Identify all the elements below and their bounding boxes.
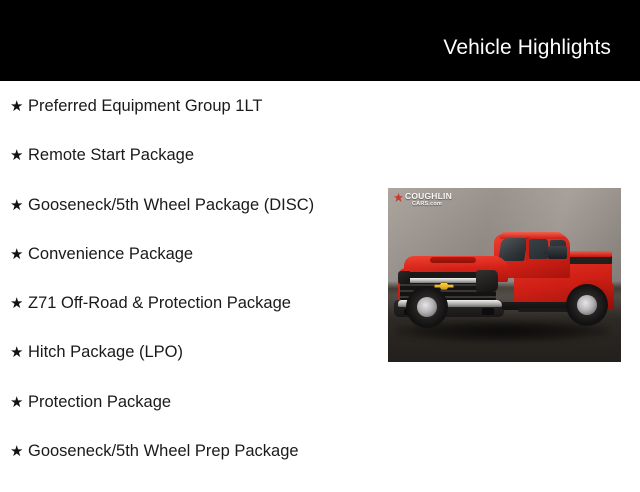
truck-headlight-left: [398, 271, 410, 284]
list-item: ★ Z71 Off-Road & Protection Package: [0, 295, 390, 344]
coughlin-star-logo-icon: [394, 193, 403, 202]
header-banner: Vehicle Highlights: [0, 0, 640, 81]
vehicle-photo: COUGHLIN CARS.com: [388, 188, 621, 362]
list-item-label: Preferred Equipment Group 1LT: [28, 98, 262, 115]
list-item-label: Z71 Off-Road & Protection Package: [28, 295, 291, 312]
truck-step-bar: [518, 308, 572, 312]
list-item-label: Remote Start Package: [28, 147, 194, 164]
truck-front-wheel-rim: [417, 297, 437, 317]
star-bullet-icon: ★: [10, 198, 28, 213]
list-item-label: Protection Package: [28, 394, 171, 411]
truck-windshield: [498, 238, 528, 261]
star-bullet-icon: ★: [10, 444, 28, 459]
truck-rear-wheel-rim: [577, 295, 597, 315]
watermark-text: COUGHLIN CARS.com: [405, 192, 452, 207]
star-bullet-icon: ★: [10, 148, 28, 163]
truck-headlight-right: [476, 270, 498, 292]
star-bullet-icon: ★: [10, 395, 28, 410]
list-item: ★ Hitch Package (LPO): [0, 344, 390, 393]
truck-front-window: [529, 239, 548, 259]
vehicle-highlights-list: ★ Preferred Equipment Group 1LT ★ Remote…: [0, 81, 390, 492]
list-item: ★ Preferred Equipment Group 1LT: [0, 81, 390, 147]
watermark-site: CARS.com: [405, 202, 452, 208]
watermark-brand: COUGHLIN: [405, 192, 452, 201]
truck-tow-mirror: [548, 246, 567, 259]
truck-rear-wheel: [566, 284, 608, 326]
star-bullet-icon: ★: [10, 296, 28, 311]
list-item: ★ Convenience Package: [0, 246, 390, 295]
truck-b-pillar: [526, 237, 529, 261]
truck-front-wheel: [406, 286, 448, 328]
truck-illustration: [390, 224, 618, 344]
list-item-label: Convenience Package: [28, 246, 193, 263]
truck-fog-light-right: [482, 308, 494, 315]
list-item-label: Gooseneck/5th Wheel Package (DISC): [28, 197, 314, 214]
star-bullet-icon: ★: [10, 247, 28, 262]
list-item: ★ Protection Package: [0, 394, 390, 443]
dealer-watermark: COUGHLIN CARS.com: [394, 192, 452, 207]
list-item-label: Hitch Package (LPO): [28, 344, 183, 361]
list-item: ★ Remote Start Package: [0, 147, 390, 196]
list-item-label: Gooseneck/5th Wheel Prep Package: [28, 443, 299, 460]
list-item: ★ Gooseneck/5th Wheel Prep Package: [0, 443, 390, 492]
page-title: Vehicle Highlights: [443, 22, 640, 60]
truck-hood-scoop: [430, 257, 476, 263]
star-bullet-icon: ★: [10, 345, 28, 360]
star-bullet-icon: ★: [10, 99, 28, 114]
list-item: ★ Gooseneck/5th Wheel Package (DISC): [0, 197, 390, 246]
